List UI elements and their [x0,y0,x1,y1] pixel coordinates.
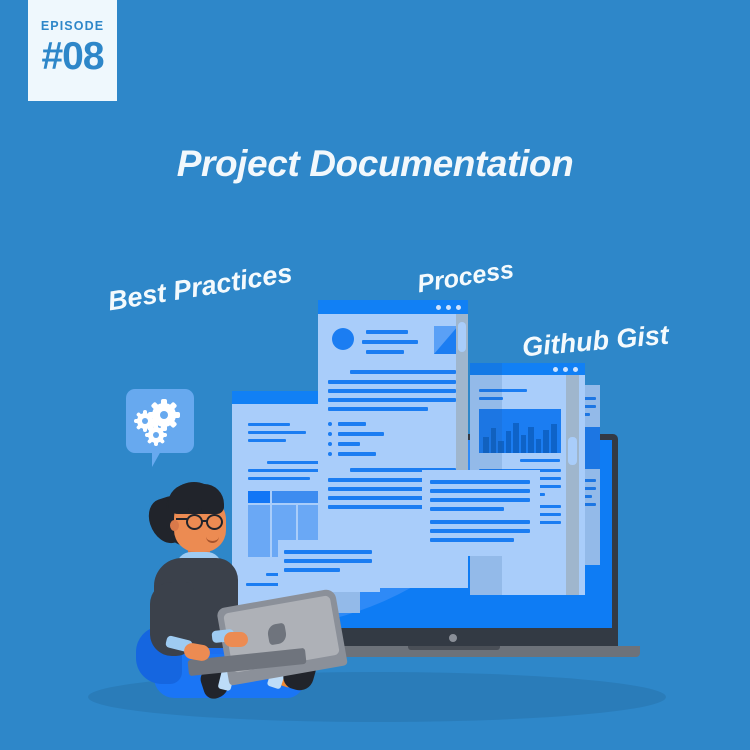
thumbnail-image [434,326,458,354]
page-title: Project Documentation [0,143,750,185]
person-illustration [128,472,328,702]
episode-number-label: #08 [41,38,103,75]
glasses-arm [176,518,187,520]
person-hand [224,632,248,647]
gear-icon [148,427,164,443]
window-title-bar [318,300,468,314]
window-dots-icon [553,367,578,372]
laptop-camera-dot [449,634,457,642]
slide-canvas: EPISODE #08 Project Documentation Best P… [0,0,750,750]
glasses-icon [186,514,203,530]
glasses-icon [206,514,223,530]
person-ear [170,520,179,531]
label-github-gist: Github Gist [521,320,670,364]
scrollbar-thumb[interactable] [458,322,466,352]
speech-bubble [126,389,194,453]
avatar [332,328,354,350]
document-sheet-front-right [422,470,540,556]
window-dots-icon [436,305,461,310]
label-process: Process [415,256,516,300]
scrollbar-thumb[interactable] [568,437,577,465]
episode-badge: EPISODE #08 [28,0,117,101]
laptop-base-lip [408,646,500,650]
person-eyebrow [188,508,202,510]
episode-kicker-label: EPISODE [41,20,104,33]
speech-bubble-tail [152,451,161,467]
label-best-practices: Best Practices [106,258,295,318]
glasses-bridge [202,520,208,522]
